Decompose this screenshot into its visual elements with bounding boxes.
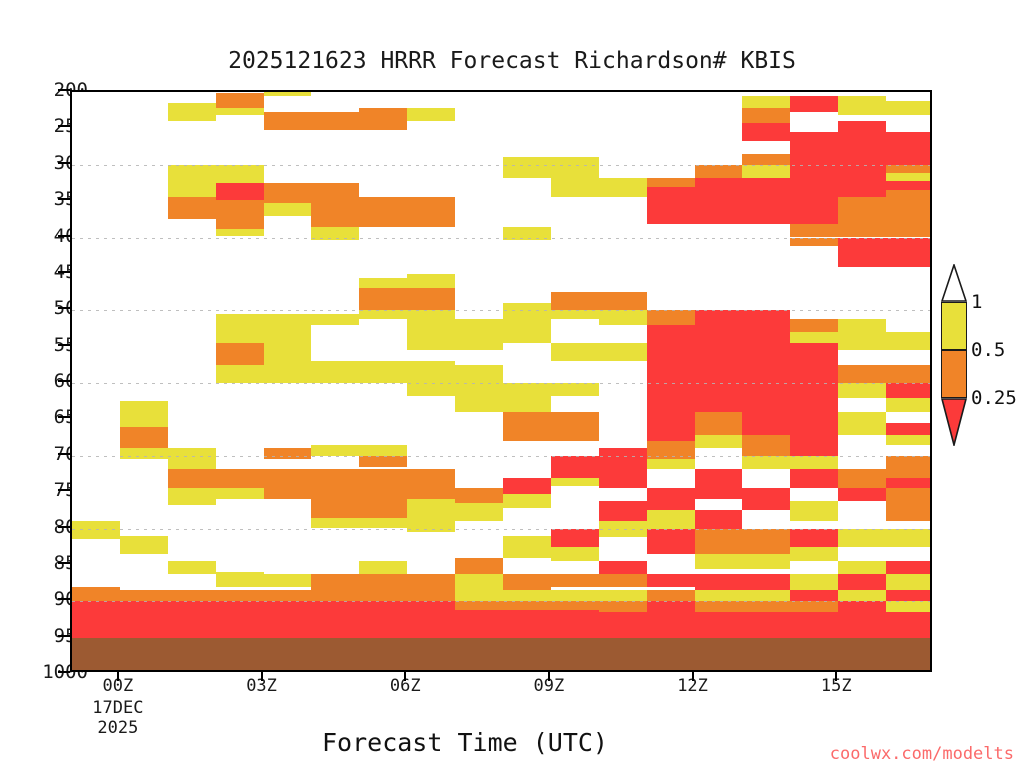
heatmap-cell [551,574,599,587]
heatmap-cell [311,112,359,129]
heatmap-cell [311,227,359,240]
heatmap-cell [790,501,838,521]
heatmap-cell [599,501,647,521]
heatmap-cell [838,238,886,267]
heatmap-cell [886,383,932,398]
heatmap-cell [216,488,264,499]
y-axis-tick-mark [58,162,70,164]
heatmap-cell [503,590,551,601]
x-axis-date-line: 17DEC [92,698,143,718]
heatmap-cell [168,601,216,637]
heatmap-cell [695,435,743,448]
heatmap-cell [599,574,647,587]
heatmap-cell [407,274,455,289]
heatmap-cell [551,157,599,177]
heatmap-cell [742,554,790,569]
heatmap-cell [838,121,886,141]
heatmap-cell [407,601,455,637]
heatmap-cell [742,178,790,225]
heatmap-cell [838,612,886,637]
heatmap-cell [264,314,312,343]
heatmap-cell [886,173,932,180]
heatmap-cell [120,536,168,554]
heatmap-cell [886,181,932,190]
heatmap-cell [742,574,790,591]
heatmap-cell [407,574,455,591]
heatmap-cell [551,610,599,638]
heatmap-cell [551,529,599,547]
heatmap-cell [742,310,790,332]
heatmap-cell [359,361,407,383]
heatmap-cell [695,554,743,569]
heatmap-cell [886,601,932,612]
heatmap-cell [647,459,695,468]
heatmap-cell [695,165,743,178]
heatmap-cell [407,197,455,226]
heatmap-cell [886,590,932,601]
heatmap-cell [551,590,599,601]
heatmap-cell [647,529,695,554]
heatmap-cell [790,601,838,612]
heatmap-cell [503,319,551,343]
heatmap-cell [503,610,551,638]
heatmap-cell [742,590,790,601]
heatmap-cell [359,278,407,289]
heatmap-cell [407,383,455,396]
heatmap-cell [886,478,932,489]
heatmap-cell [838,96,886,116]
heatmap-cell [742,456,790,469]
heatmap-cell [264,343,312,368]
heatmap-plot-area[interactable] [70,90,932,672]
heatmap-cell [72,521,120,539]
y-axis-tick-mark [58,307,70,309]
heatmap-cell [599,561,647,573]
heatmap-cell [407,499,455,521]
heatmap-cell [503,303,551,319]
heatmap-cell [311,445,359,456]
y-axis-tick-mark [58,416,70,418]
heatmap-cell [647,354,695,412]
terrain-band [72,638,930,672]
heatmap-cell [407,288,455,310]
heatmap-cell [647,510,695,528]
heatmap-cell [359,310,407,319]
heatmap-cell [790,456,838,469]
heatmap-cell [264,601,312,637]
heatmap-cells [72,92,930,670]
heatmap-cell [551,601,599,610]
heatmap-cell [503,412,551,441]
heatmap-cell [790,343,838,412]
heatmap-cell [503,383,551,412]
heatmap-cell [742,332,790,412]
heatmap-cell [551,343,599,361]
heatmap-cell [695,310,743,325]
heatmap-cell [407,469,455,500]
heatmap-cell [455,590,503,601]
page-title: 2025121623 HRRR Forecast Richardson# KBI… [0,48,1024,74]
heatmap-cell [742,488,790,510]
y-axis-tick-mark [58,562,70,564]
heatmap-cell [311,469,359,486]
heatmap-cell [790,529,838,547]
heatmap-cell [503,478,551,494]
heatmap-cell [599,178,647,198]
y-axis-tick-mark [58,344,70,346]
heatmap-cell [264,574,312,587]
heatmap-cell [695,601,743,612]
heatmap-cell [455,558,503,574]
heatmap-cell [790,96,838,113]
heatmap-cell [838,601,886,612]
heatmap-cell [551,383,599,396]
heatmap-cell [216,365,264,383]
heatmap-cell [886,435,932,444]
heatmap-cell [455,319,503,350]
heatmap-cell [407,310,455,319]
heatmap-cell [120,601,168,637]
heatmap-cell [168,197,216,219]
heatmap-cell [120,401,168,426]
heatmap-cell [647,412,695,441]
heatmap-cell [264,203,312,216]
heatmap-cell [120,427,168,449]
heatmap-cell [311,518,359,529]
heatmap-cell [742,165,790,178]
heatmap-cell [216,601,264,637]
heatmap-cell [742,108,790,123]
x-axis-label: Forecast Time (UTC) [0,728,930,757]
heatmap-cell [503,536,551,558]
heatmap-cell [790,319,838,332]
heatmap-cell [264,590,312,601]
heatmap-cell [838,141,886,164]
heatmap-cell [407,590,455,601]
heatmap-cell [503,494,551,509]
heatmap-cell [264,368,312,383]
credit-watermark: coolwx.com/modelts [830,744,1014,764]
heatmap-cell [216,108,264,115]
x-axis-tick-mark [261,672,263,681]
heatmap-cell [216,314,264,343]
heatmap-cell [359,445,407,456]
heatmap-cell [72,587,120,602]
heatmap-cell [407,361,455,383]
y-axis-tick-mark [58,598,70,600]
heatmap-cell [695,590,743,601]
heatmap-cell [647,590,695,601]
heatmap-cell [216,469,264,489]
heatmap-cell [216,200,264,229]
heatmap-cell [838,469,886,489]
heatmap-cell [455,503,503,521]
heatmap-cell [216,93,264,108]
colorbar[interactable]: 10.50.25 [941,302,967,447]
heatmap-cell [886,612,932,637]
forecast-chart-page: 2025121623 HRRR Forecast Richardson# KBI… [0,0,1024,768]
heatmap-cell [838,590,886,601]
heatmap-cell [599,343,647,361]
heatmap-cell [838,529,886,547]
colorbar-tick-label: 1 [971,291,982,313]
heatmap-cell [455,383,503,412]
heatmap-cell [359,288,407,310]
heatmap-cell [695,178,743,225]
heatmap-cell [264,183,312,203]
heatmap-cell [72,601,120,637]
heatmap-cell [216,572,264,587]
heatmap-cell [886,423,932,435]
heatmap-cell [359,574,407,591]
y-axis-tick-mark [58,489,70,491]
heatmap-cell [120,448,168,459]
heatmap-cell [742,96,790,108]
heatmap-cell [838,383,886,398]
x-axis-tick-mark [835,672,837,681]
heatmap-cell [790,574,838,591]
heatmap-cell [311,214,359,226]
heatmap-cell [168,561,216,573]
heatmap-cell [790,469,838,489]
heatmap-cell [168,103,216,121]
colorbar-segment[interactable] [941,350,967,398]
y-axis-tick-mark [58,635,70,637]
heatmap-cell [216,590,264,601]
y-axis-tick-mark [58,671,70,673]
heatmap-cell [838,319,886,332]
heatmap-cell [886,488,932,521]
heatmap-cell [503,227,551,240]
heatmap-cell [311,574,359,591]
heatmap-cell [886,132,932,165]
heatmap-cell [168,448,216,468]
heatmap-cell [695,325,743,412]
heatmap-cell [599,310,647,325]
heatmap-cell [742,435,790,455]
heatmap-cell [790,224,838,237]
heatmap-cell [311,590,359,601]
heatmap-cell [359,590,407,601]
x-axis-tick-mark [404,672,406,681]
heatmap-cell [216,183,264,200]
heatmap-cell [886,529,932,547]
heatmap-cell [216,165,264,183]
heatmap-cell [359,469,407,518]
heatmap-cell [790,332,838,343]
y-axis-tick-mark [58,89,70,91]
heatmap-cell [886,190,932,237]
heatmap-cell [790,547,838,562]
colorbar-tick-label: 0.25 [971,387,1017,409]
heatmap-cell [551,292,599,310]
heatmap-cell [168,469,216,489]
heatmap-cell [455,601,503,610]
heatmap-cell [647,325,695,354]
heatmap-cell [359,561,407,573]
heatmap-cell [551,310,599,319]
heatmap-cell [359,601,407,637]
heatmap-cell [311,486,359,517]
heatmap-cell [359,197,407,226]
heatmap-cell [742,612,790,637]
heatmap-cell [503,601,551,610]
heatmap-cell [264,92,312,96]
heatmap-cell [886,365,932,383]
heatmap-cell [216,343,264,365]
heatmap-cell [790,178,838,225]
x-axis-tick-mark [692,672,694,681]
heatmap-cell [264,112,312,129]
heatmap-cell [455,610,503,638]
heatmap-cell [311,361,359,383]
heatmap-cell [790,612,838,637]
heatmap-cell [838,165,886,198]
heatmap-cell [886,101,932,116]
heatmap-cell [886,574,932,591]
heatmap-cell [695,412,743,435]
heatmap-cell [599,292,647,310]
heatmap-cell [695,469,743,500]
y-axis-tick-mark [58,125,70,127]
heatmap-cell [838,365,886,383]
heatmap-cell [790,165,838,178]
heatmap-cell [311,183,359,214]
heatmap-cell [647,601,695,637]
heatmap-cell [838,488,886,500]
heatmap-cell [359,518,407,529]
heatmap-cell [695,612,743,637]
heatmap-cell [311,314,359,325]
heatmap-cell [647,310,695,325]
heatmap-cell [790,238,838,247]
heatmap-cell [216,229,264,236]
heatmap-cell [838,412,886,435]
heatmap-cell [264,469,312,500]
heatmap-cell [551,412,599,441]
heatmap-cell [359,456,407,467]
heatmap-cell [551,478,599,487]
heatmap-cell [168,165,216,198]
y-axis-tick-mark [58,453,70,455]
heatmap-cell [695,529,743,554]
heatmap-cell [599,601,647,612]
heatmap-cell [503,574,551,591]
heatmap-cell [599,467,647,489]
heatmap-cell [120,590,168,601]
y-axis-tick-mark [58,235,70,237]
heatmap-cell [264,448,312,459]
heatmap-cell [838,197,886,237]
colorbar-tick-label: 0.5 [971,339,1005,361]
y-axis-tick-mark [58,198,70,200]
heatmap-cell [695,574,743,591]
x-axis-tick-mark [548,672,550,681]
heatmap-cell [886,165,932,174]
y-axis-tick-mark [58,380,70,382]
x-axis-tick-mark [117,672,119,681]
heatmap-cell [742,154,790,165]
heatmap-cell [455,365,503,383]
heatmap-cell [168,590,216,601]
heatmap-cell [503,157,551,177]
heatmap-cell [742,529,790,554]
heatmap-cell [790,132,838,165]
heatmap-cell [599,590,647,601]
heatmap-cell [599,448,647,466]
heatmap-cell [647,441,695,459]
heatmap-cell [886,456,932,478]
heatmap-cell [886,238,932,267]
heatmap-cell [455,574,503,591]
heatmap-cell [742,123,790,142]
heatmap-cell [886,398,932,413]
heatmap-cell [407,108,455,121]
heatmap-cell [695,510,743,528]
heatmap-cell [838,574,886,591]
heatmap-cell [311,601,359,637]
heatmap-cell [407,521,455,532]
heatmap-cell [790,412,838,456]
heatmap-cell [455,488,503,503]
heatmap-cell [790,590,838,601]
y-axis-tick-mark [58,526,70,528]
heatmap-cell [742,412,790,435]
heatmap-cell [551,547,599,562]
heatmap-cell [359,108,407,130]
heatmap-cell [599,612,647,637]
heatmap-cell [838,332,886,350]
heatmap-cell [168,488,216,505]
heatmap-cell [407,319,455,350]
heatmap-cell [599,521,647,537]
heatmap-cell [647,574,695,587]
heatmap-cell [742,601,790,612]
heatmap-cell [886,561,932,573]
heatmap-cell [647,488,695,510]
heatmap-cell [838,561,886,573]
heatmap-cell [551,456,599,478]
colorbar-segment[interactable] [941,302,967,350]
heatmap-cell [647,178,695,187]
heatmap-cell [886,332,932,350]
heatmap-cell [647,187,695,225]
heatmap-cell [551,178,599,198]
y-axis-tick-mark [58,271,70,273]
